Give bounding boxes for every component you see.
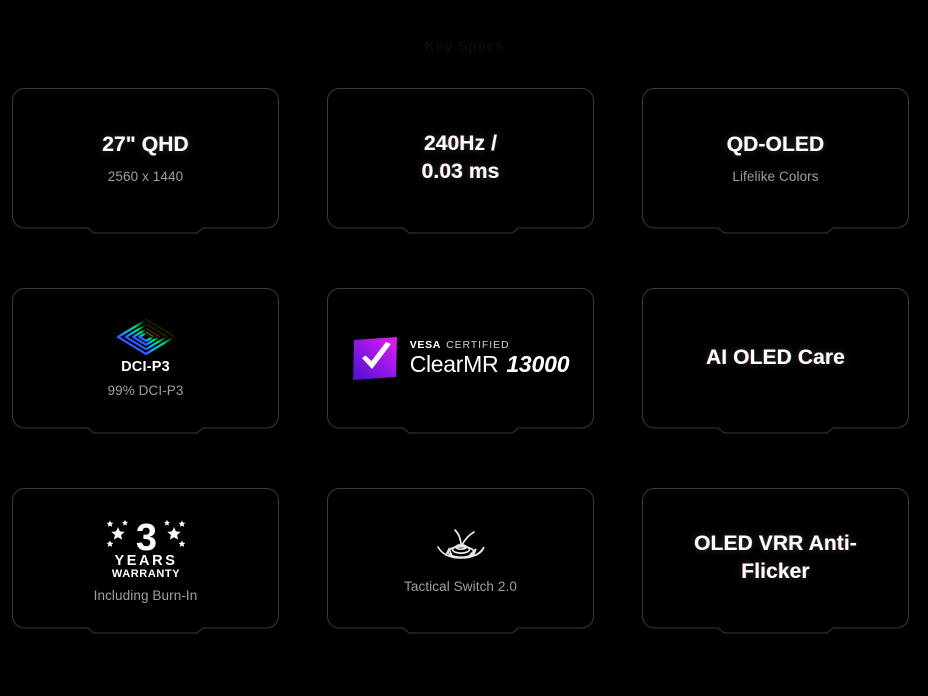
card-warranty[interactable]: 3 YEARS WARRANTY Including Burn-In	[12, 488, 279, 636]
color-gamut-diamond-icon: DCI-P3	[30, 317, 261, 375]
card-ai-oled-care[interactable]: AI OLED Care	[642, 288, 909, 436]
card-oled-vrr[interactable]: OLED VRR Anti-Flicker	[642, 488, 909, 636]
card-clearmr[interactable]: VESA CERTIFIED ClearMR 13000	[327, 288, 594, 436]
card-content: VESA CERTIFIED ClearMR 13000	[345, 337, 576, 380]
card-content: 240Hz / 0.03 ms	[345, 130, 576, 186]
card-color-gamut[interactable]: DCI-P399% DCI-P3	[12, 288, 279, 436]
card-content: DCI-P399% DCI-P3	[30, 317, 261, 400]
card-content: 27" QHD2560 x 1440	[30, 131, 261, 186]
tactical-switch-ripple-icon	[345, 521, 576, 569]
card-subtitle: Lifelike Colors	[660, 168, 891, 186]
clearmr-score: 13000	[506, 353, 569, 376]
card-content: OLED VRR Anti-Flicker	[660, 530, 891, 586]
card-title: OLED VRR Anti-Flicker	[660, 530, 891, 586]
certified-label: CERTIFIED	[446, 340, 509, 351]
card-refresh-rate[interactable]: 240Hz / 0.03 ms	[327, 88, 594, 236]
card-resolution[interactable]: 27" QHD2560 x 1440	[12, 88, 279, 236]
card-subtitle: Tactical Switch 2.0	[345, 578, 576, 596]
card-content: AI OLED Care	[660, 344, 891, 372]
feature-grid-page: Key Specs 27" QHD2560 x 1440 240Hz / 0.0…	[0, 0, 928, 696]
card-panel-type[interactable]: QD-OLEDLifelike Colors	[642, 88, 909, 236]
dcip3-logo-text: DCI-P3	[121, 359, 170, 375]
card-content: Tactical Switch 2.0	[345, 521, 576, 596]
feature-card-grid: 27" QHD2560 x 1440 240Hz / 0.03 ms QD-OL…	[12, 88, 910, 636]
three-years-warranty-star-icon: 3 YEARS WARRANTY	[30, 512, 261, 580]
card-content: QD-OLEDLifelike Colors	[660, 131, 891, 186]
card-subtitle: Including Burn-In	[30, 587, 261, 605]
card-title: QD-OLED	[660, 131, 891, 159]
clearmr-brand: ClearMR	[410, 353, 499, 376]
card-title: 240Hz / 0.03 ms	[345, 130, 576, 186]
section-heading: Key Specs	[0, 38, 928, 55]
card-title: 27" QHD	[30, 131, 261, 159]
vesa-clearmr-check-icon: VESA CERTIFIED ClearMR 13000	[345, 337, 576, 380]
card-subtitle: 2560 x 1440	[30, 168, 261, 186]
svg-text:WARRANTY: WARRANTY	[111, 568, 179, 580]
card-title: AI OLED Care	[660, 344, 891, 372]
svg-text:YEARS: YEARS	[114, 553, 177, 569]
card-subtitle: 99% DCI-P3	[30, 382, 261, 400]
card-tactical-switch[interactable]: Tactical Switch 2.0	[327, 488, 594, 636]
vesa-label: VESA	[410, 340, 441, 351]
card-content: 3 YEARS WARRANTY Including Burn-In	[30, 512, 261, 605]
